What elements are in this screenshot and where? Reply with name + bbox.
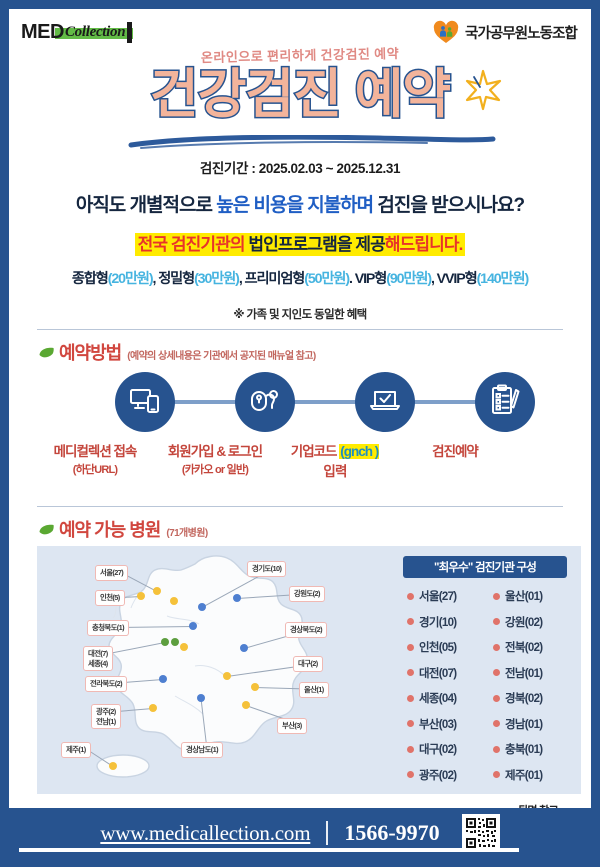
region-count-grid: 서울(27)울산(01)경기(10)강원(02)인천(05)전북(02)대전(0…: [407, 588, 575, 783]
howto-title: 예약방법: [59, 339, 121, 365]
region-list-item: 경남(01): [493, 716, 575, 732]
step-2-label-text: 회원가입 & 로그인: [168, 444, 262, 459]
benefit-note: ※ 가족 및 지인도 동일한 혜택: [9, 306, 591, 322]
map-dot-blue: [240, 644, 248, 652]
bullet-dot-icon: [493, 771, 500, 778]
checkup-period: 검진기간 : 2025.02.03 ~ 2025.12.31: [9, 157, 591, 177]
map-dot-yellow: [137, 592, 145, 600]
medicallection-logo: MED Collection: [21, 21, 132, 44]
bullet-dot-icon: [407, 695, 414, 702]
region-list-item: 경북(02): [493, 690, 575, 706]
step-2-icon-circle[interactable]: [235, 372, 295, 432]
qr-code-icon[interactable]: [462, 814, 500, 852]
question-highlight: 높은 비용을 지불하며: [216, 195, 373, 216]
question-post: 검진을 받으시나요?: [373, 195, 524, 216]
hospitals-title: 예약 가능 병원: [59, 516, 160, 542]
step-3-icon-circle[interactable]: [355, 372, 415, 432]
region-label: 대구(02): [419, 741, 456, 757]
bullet-dot-icon: [493, 695, 500, 702]
bullet-dot-icon: [407, 669, 414, 676]
region-list-item: 대구(02): [407, 741, 489, 757]
map-dot-blue: [159, 675, 167, 683]
region-list-item: 광주(02): [407, 767, 489, 783]
region-list-item: 전남(01): [493, 665, 575, 681]
region-list-item: 전북(02): [493, 639, 575, 655]
plan-price-line: 종합형(20만원), 정밀형(30만원), 프리미엄형(50만원). VIP형(…: [9, 268, 591, 288]
map-dot-blue: [197, 694, 205, 702]
poster-inner: MED Collection 국가공무원노동조합 온라인으로 편리하게 건강검진…: [9, 9, 591, 858]
company-code-value: (gnch ): [339, 444, 379, 459]
map-dot-yellow: [109, 762, 117, 770]
plan-price-4: (140만원): [477, 271, 529, 287]
section-header-howto: 예약방법 (예약의 상세내용은 기관에서 공지된 매뉴얼 참고): [39, 339, 316, 365]
map-dot-yellow: [242, 701, 250, 709]
map-dot-blue: [233, 594, 241, 602]
clipboard-pen-icon: [488, 383, 522, 422]
best-institutions-box: "최우수" 검진기관 구성 서울(27)울산(01)경기(10)강원(02)인천…: [389, 546, 581, 794]
region-list-item: 경기(10): [407, 614, 489, 630]
offer-text-3: 해드립니다.: [385, 235, 463, 254]
map-region-label: 서울(27): [95, 565, 128, 581]
step-4-icon-circle[interactable]: [475, 372, 535, 432]
region-list-item: 서울(27): [407, 588, 489, 604]
list-title: "최우수" 검진기관 구성: [403, 556, 567, 578]
region-label: 인천(05): [419, 639, 456, 655]
map-dot-yellow: [223, 672, 231, 680]
region-label: 강원(02): [505, 614, 542, 630]
hospitals-subtitle: (71개병원): [166, 524, 207, 539]
map-region-label: 인천(5): [95, 590, 125, 606]
map-region-label: 대전(7)세종(4): [83, 646, 113, 671]
divider-1: [37, 329, 563, 330]
plan-name-4: VVIP형: [437, 271, 477, 287]
divider-2: [37, 506, 563, 507]
map-dot-blue: [189, 622, 197, 630]
region-label: 경남(01): [505, 716, 542, 732]
map-dot-yellow: [170, 597, 178, 605]
section-header-hospitals: 예약 가능 병원 (71개병원): [39, 516, 208, 542]
bullet-dot-icon: [493, 644, 500, 651]
offer-text-2: 법인프로그램을 제공: [248, 235, 384, 254]
map-region-label: 경상북도(2): [285, 622, 327, 638]
laptop-check-icon: [368, 383, 402, 422]
region-list-item: 세종(04): [407, 690, 489, 706]
step-4-label-text: 검진예약: [432, 444, 478, 459]
monitor-mobile-icon: [128, 383, 162, 422]
map-region-label: 충청북도(1): [87, 620, 129, 636]
map-dot-yellow: [153, 587, 161, 595]
region-label: 세종(04): [419, 690, 456, 706]
poster-root: MED Collection 국가공무원노동조합 온라인으로 편리하게 건강검진…: [0, 0, 600, 867]
map-dot-green: [161, 638, 169, 646]
map-region-label: 경상남도(1): [181, 742, 223, 758]
map-region-label: 전라북도(2): [85, 676, 127, 692]
bullet-dot-icon: [407, 593, 414, 600]
bullet-dot-icon: [493, 746, 500, 753]
logo-end-bar: [127, 22, 132, 43]
bullet-dot-icon: [493, 618, 500, 625]
region-list-item: 울산(01): [493, 588, 575, 604]
map-panel: 서울(27)경기도(10)인천(5)강원도(2)충청북도(1)경상북도(2)대전…: [37, 546, 581, 794]
region-list-item: 인천(05): [407, 639, 489, 655]
step-4-label: 검진예약: [380, 442, 530, 462]
step-flow: [71, 372, 547, 434]
bullet-dot-icon: [407, 618, 414, 625]
title-underline-swoosh: [127, 135, 497, 149]
highlight-offer-line: 전국 검진기관의 법인프로그램을 제공해드립니다.: [9, 230, 591, 255]
region-label: 서울(27): [419, 588, 456, 604]
plan-price-1: (30만원): [194, 271, 239, 287]
region-list-item: 부산(03): [407, 716, 489, 732]
plan-name-3: VIP형: [355, 271, 387, 287]
map-dot-yellow: [180, 643, 188, 651]
bullet-dot-icon: [407, 771, 414, 778]
map-dot-blue: [198, 603, 206, 611]
offer-text-1: 전국 검진기관의: [138, 235, 249, 254]
region-label: 대전(07): [419, 665, 456, 681]
region-label: 경기(10): [419, 614, 456, 630]
map-dot-green: [171, 638, 179, 646]
step-3-label-post: 입력: [260, 462, 410, 482]
region-label: 경북(02): [505, 690, 542, 706]
step-connector-line: [127, 400, 491, 404]
region-list-item: 대전(07): [407, 665, 489, 681]
footer-bar: www.medicallection.com 1566-9970: [9, 808, 591, 858]
logo-collection-text: Collection: [65, 24, 125, 41]
region-label: 전남(01): [505, 665, 542, 681]
region-label: 광주(02): [419, 767, 456, 783]
map-dot-yellow: [251, 683, 259, 691]
region-label: 울산(01): [505, 588, 542, 604]
region-list-item: 충북(01): [493, 741, 575, 757]
bullet-dot-icon: [493, 720, 500, 727]
headline-question: 아직도 개별적으로 높은 비용을 지불하며 검진을 받으시나요?: [9, 190, 591, 217]
plan-name-0: 종합형: [72, 271, 108, 287]
leaf-icon: [39, 346, 54, 358]
leaf-icon: [39, 523, 54, 535]
phone-number[interactable]: 1566-9970: [344, 820, 439, 846]
map-region-label: 경기도(10): [247, 561, 286, 577]
step-3-label-pre: 기업코드: [291, 444, 339, 459]
step-1-label-text: 메디컬렉션 접속: [54, 444, 137, 459]
bullet-dot-icon: [493, 593, 500, 600]
map-region-label: 광주(2)전남(1): [91, 704, 121, 729]
map-region-label: 부산(3): [277, 718, 307, 734]
footer-divider: [326, 821, 328, 845]
plan-name-2: 프리미엄형: [245, 271, 305, 287]
region-label: 충북(01): [505, 741, 542, 757]
map-dot-yellow: [149, 704, 157, 712]
plan-price-3: (90만원): [386, 271, 431, 287]
question-pre: 아직도 개별적으로: [76, 195, 216, 216]
logo-med-text: MED: [21, 21, 64, 44]
bullet-dot-icon: [493, 669, 500, 676]
bullet-dot-icon: [407, 746, 414, 753]
page-title: 건강검진 예약: [9, 67, 591, 123]
website-url[interactable]: www.medicallection.com: [100, 821, 310, 846]
mouse-lock-icon: [248, 383, 282, 422]
region-list-item: 제주(01): [493, 767, 575, 783]
region-label: 제주(01): [505, 767, 542, 783]
region-list-item: 강원(02): [493, 614, 575, 630]
bullet-dot-icon: [407, 644, 414, 651]
step-1-icon-circle[interactable]: [115, 372, 175, 432]
map-region-label: 울산(1): [299, 682, 329, 698]
bullet-dot-icon: [407, 720, 414, 727]
footer-underbar: [19, 848, 519, 852]
plan-name-1: 정밀형: [158, 271, 194, 287]
region-label: 부산(03): [419, 716, 456, 732]
map-region-label: 제주(1): [61, 742, 91, 758]
map-region-label: 강원도(2): [289, 586, 325, 602]
plan-price-0: (20만원): [108, 271, 153, 287]
howto-subtitle: (예약의 상세내용은 기관에서 공지된 매뉴얼 참고): [127, 347, 315, 362]
region-label: 전북(02): [505, 639, 542, 655]
map-region-label: 대구(2): [293, 656, 323, 672]
plan-price-2: (50만원): [304, 271, 349, 287]
